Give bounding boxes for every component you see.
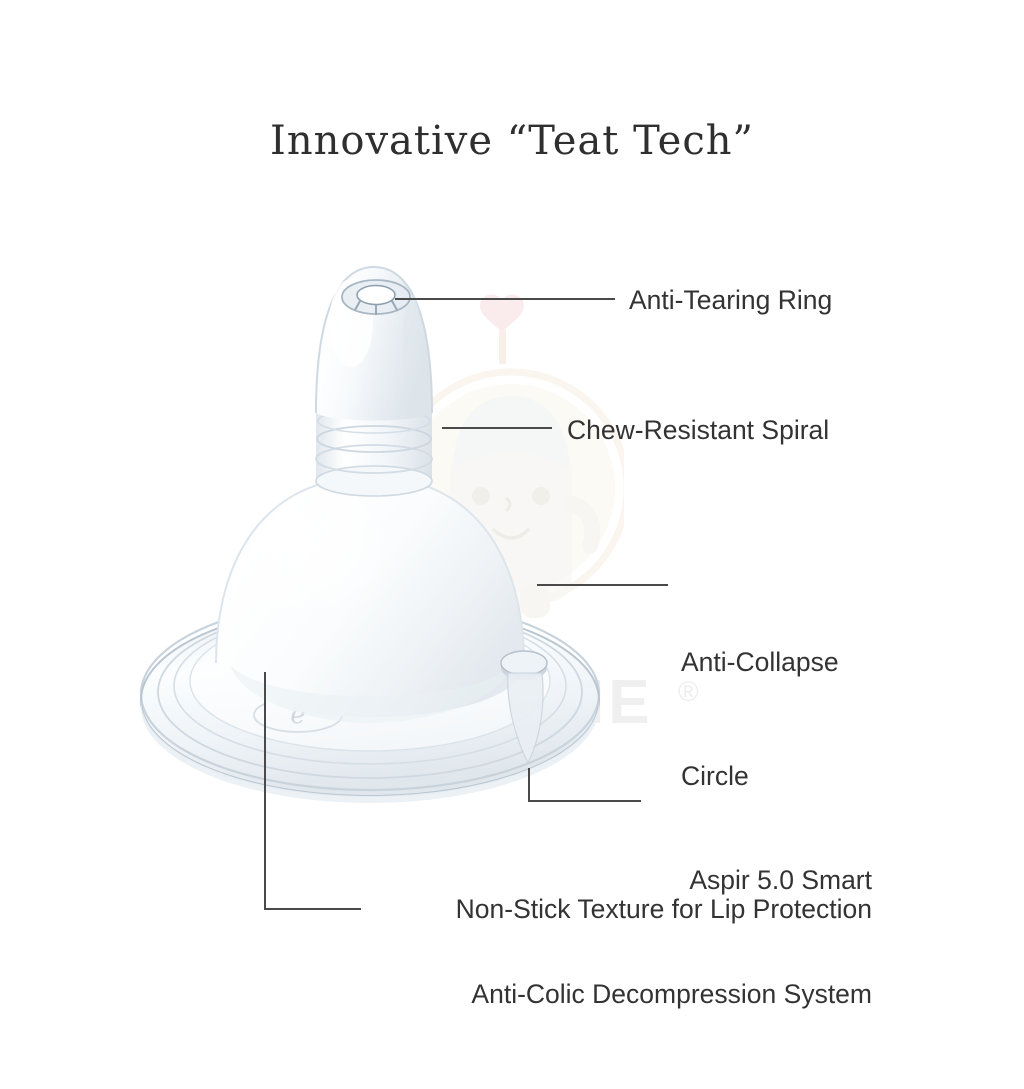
- callout-label-chew-resistant-spiral: Chew-Resistant Spiral: [567, 411, 829, 449]
- callout-label-anti-colic-system: Aspir 5.0 Smart Anti-Colic Decompression…: [0, 785, 872, 1089]
- teat-body-dome: [216, 477, 524, 723]
- page-title: Innovative “Teat Tech”: [0, 118, 1024, 164]
- product-illustration: e: [120, 245, 640, 805]
- callout-line-1: Anti-Collapse: [681, 643, 839, 681]
- callout-label-anti-tearing-ring: Anti-Tearing Ring: [629, 281, 832, 319]
- leader-line-chew-resistant-spiral: [442, 427, 552, 429]
- callout-label-non-stick-texture: Non-Stick Texture for Lip Protection: [0, 890, 872, 928]
- leader-line-anti-collapse-circle: [537, 584, 668, 586]
- callout-line-2: Anti-Colic Decompression System: [0, 975, 872, 1013]
- infographic-canvas: HEARTOME ® Innovative “Teat Tech”: [0, 0, 1024, 1024]
- leader-line-anti-tearing-ring: [395, 298, 615, 300]
